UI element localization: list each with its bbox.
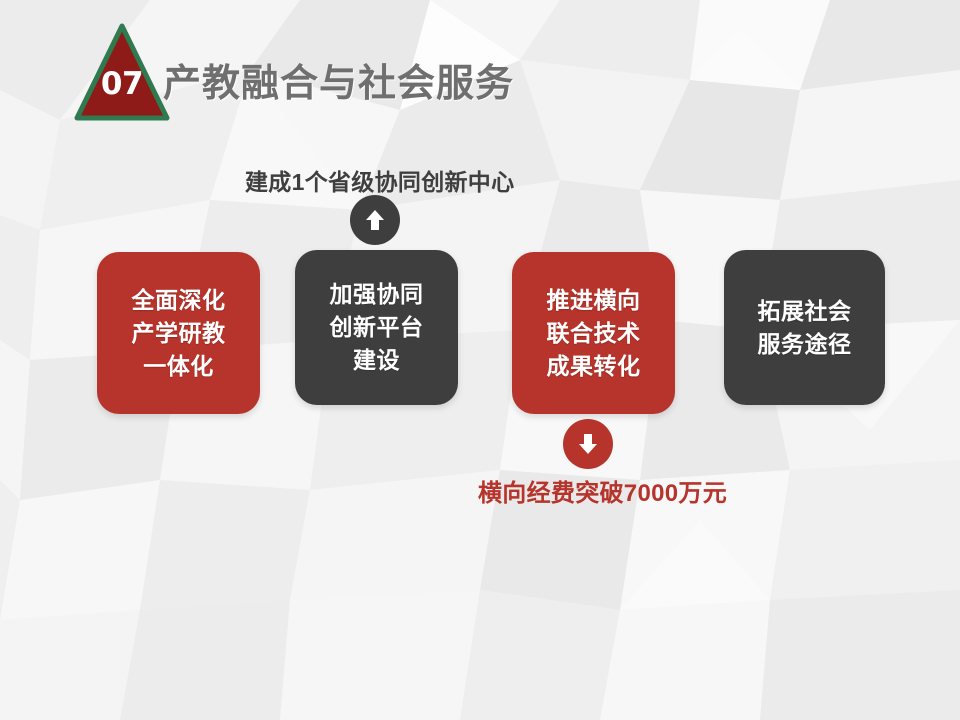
strategy-box-2-line-3: 建设 <box>353 344 400 377</box>
strategy-box-1-line-1: 全面深化 <box>132 284 226 317</box>
strategy-box-4-line-1: 拓展社会 <box>758 295 852 328</box>
strategy-box-3[interactable]: 推进横向 联合技术 成果转化 <box>512 252 675 414</box>
strategy-box-3-line-3: 成果转化 <box>547 350 641 383</box>
top-annotation-label: 建成1个省级协同创新中心 <box>245 163 514 197</box>
strategy-box-3-line-1: 推进横向 <box>547 284 641 317</box>
strategy-box-4[interactable]: 拓展社会 服务途径 <box>724 250 885 405</box>
slide-header: 07 产教融合与社会服务 <box>0 0 960 140</box>
strategy-box-2-line-2: 创新平台 <box>330 311 424 344</box>
slide-canvas: 07 产教融合与社会服务 建成1个省级协同创新中心 全面深化 产学研教 一体化 … <box>0 0 960 720</box>
strategy-box-1-line-3: 一体化 <box>143 350 214 383</box>
section-number-label: 07 <box>74 66 170 102</box>
page-title: 产教融合与社会服务 <box>163 52 514 107</box>
strategy-box-1-line-2: 产学研教 <box>132 317 226 350</box>
arrow-down-circle-icon <box>563 419 613 469</box>
strategy-box-2[interactable]: 加强协同 创新平台 建设 <box>295 250 458 405</box>
bottom-annotation-label: 横向经费突破7000万元 <box>478 473 727 508</box>
strategy-box-3-line-2: 联合技术 <box>547 317 641 350</box>
strategy-box-2-line-1: 加强协同 <box>330 278 424 311</box>
section-number-badge: 07 <box>74 22 170 122</box>
strategy-box-1[interactable]: 全面深化 产学研教 一体化 <box>97 252 260 414</box>
arrow-up-circle-icon <box>350 195 400 245</box>
strategy-box-4-line-2: 服务途径 <box>758 328 852 361</box>
